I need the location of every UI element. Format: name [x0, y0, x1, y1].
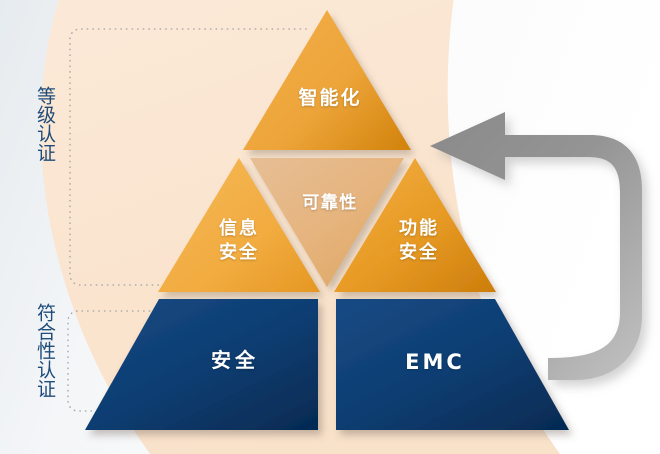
pyramid-layer: [0, 0, 660, 454]
side-label-level-certification: 等级认证: [22, 86, 56, 162]
block-emc[interactable]: [336, 299, 569, 430]
diagram-canvas: 等级认证 符合性认证 智能化 可靠性 信息 安全 功能 安全 安全 EMC: [0, 0, 660, 454]
block-smart[interactable]: [243, 10, 411, 150]
side-label-compliance-certification: 符合性认证: [22, 303, 56, 398]
block-safety[interactable]: [85, 299, 318, 430]
